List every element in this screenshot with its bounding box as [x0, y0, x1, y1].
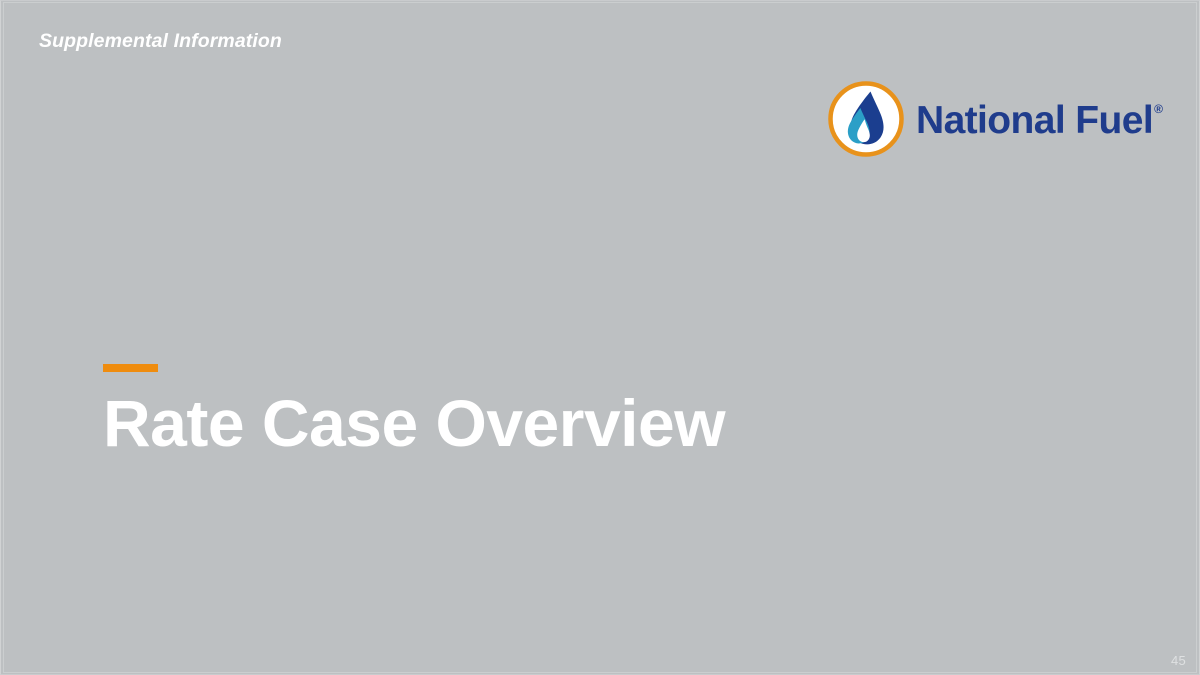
brand-wordmark-text: National Fuel: [916, 99, 1153, 142]
brand-logo: National Fuel®: [828, 80, 1162, 158]
accent-rule: [103, 364, 158, 372]
section-eyebrow-label: Supplemental Information: [39, 30, 282, 53]
registered-trademark-icon: ®: [1154, 102, 1163, 116]
page-number: 45: [1171, 653, 1186, 668]
presentation-slide: Supplemental Information National Fuel® …: [0, 0, 1200, 675]
brand-wordmark: National Fuel®: [916, 101, 1162, 140]
flame-droplet-icon: [828, 81, 904, 157]
page-title: Rate Case Overview: [103, 388, 725, 459]
slide-title-block: Rate Case Overview: [103, 364, 725, 459]
